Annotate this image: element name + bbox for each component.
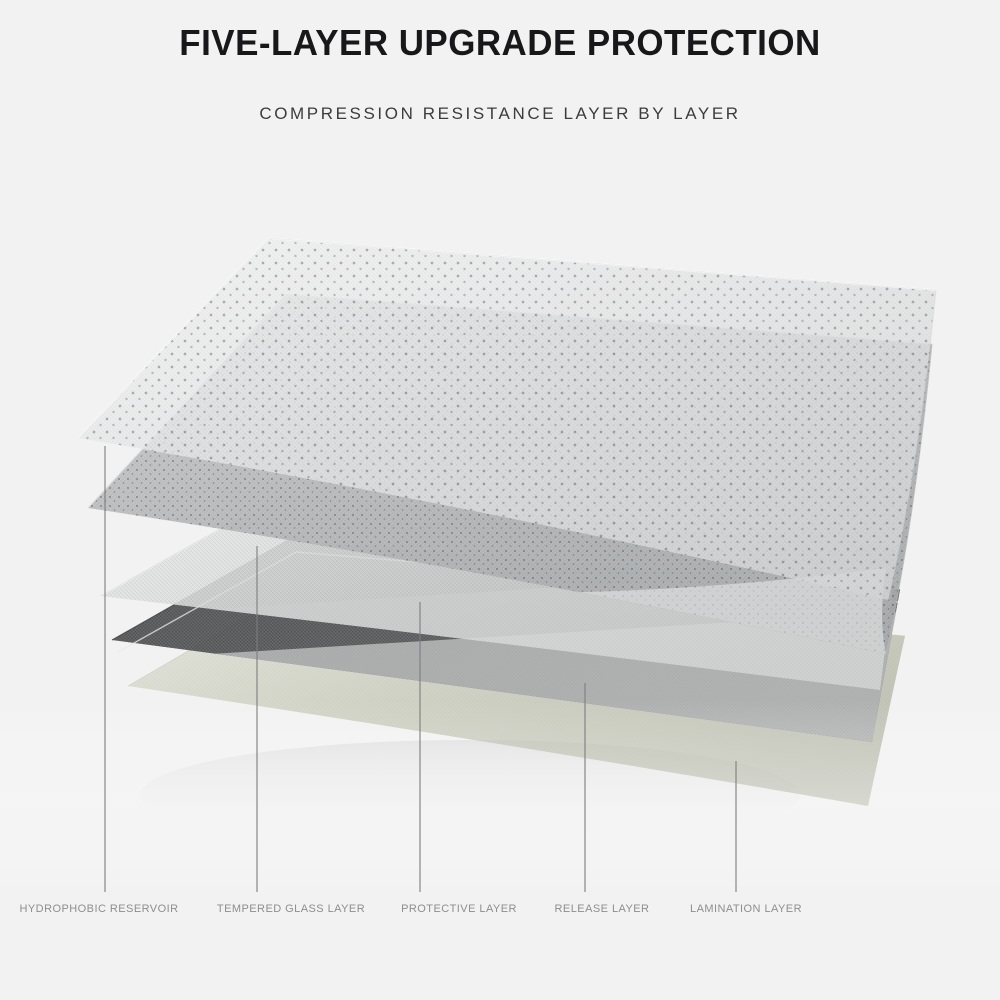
callout-label-release-layer: RELEASE LAYER	[555, 903, 650, 915]
product-infographic: FIVE-LAYER UPGRADE PROTECTION COMPRESSIO…	[0, 0, 1000, 1000]
layer-stack-illustration	[0, 0, 1000, 1000]
callout-label-protective-layer: PROTECTIVE LAYER	[401, 903, 517, 915]
callout-label-lamination-layer: LAMINATION LAYER	[690, 903, 802, 915]
callout-label-hydrophobic-reservoir: HYDROPHOBIC RESERVOIR	[20, 903, 179, 915]
callout-label-tempered-glass-layer: TEMPERED GLASS LAYER	[217, 903, 365, 915]
bottom-fade	[0, 700, 1000, 900]
